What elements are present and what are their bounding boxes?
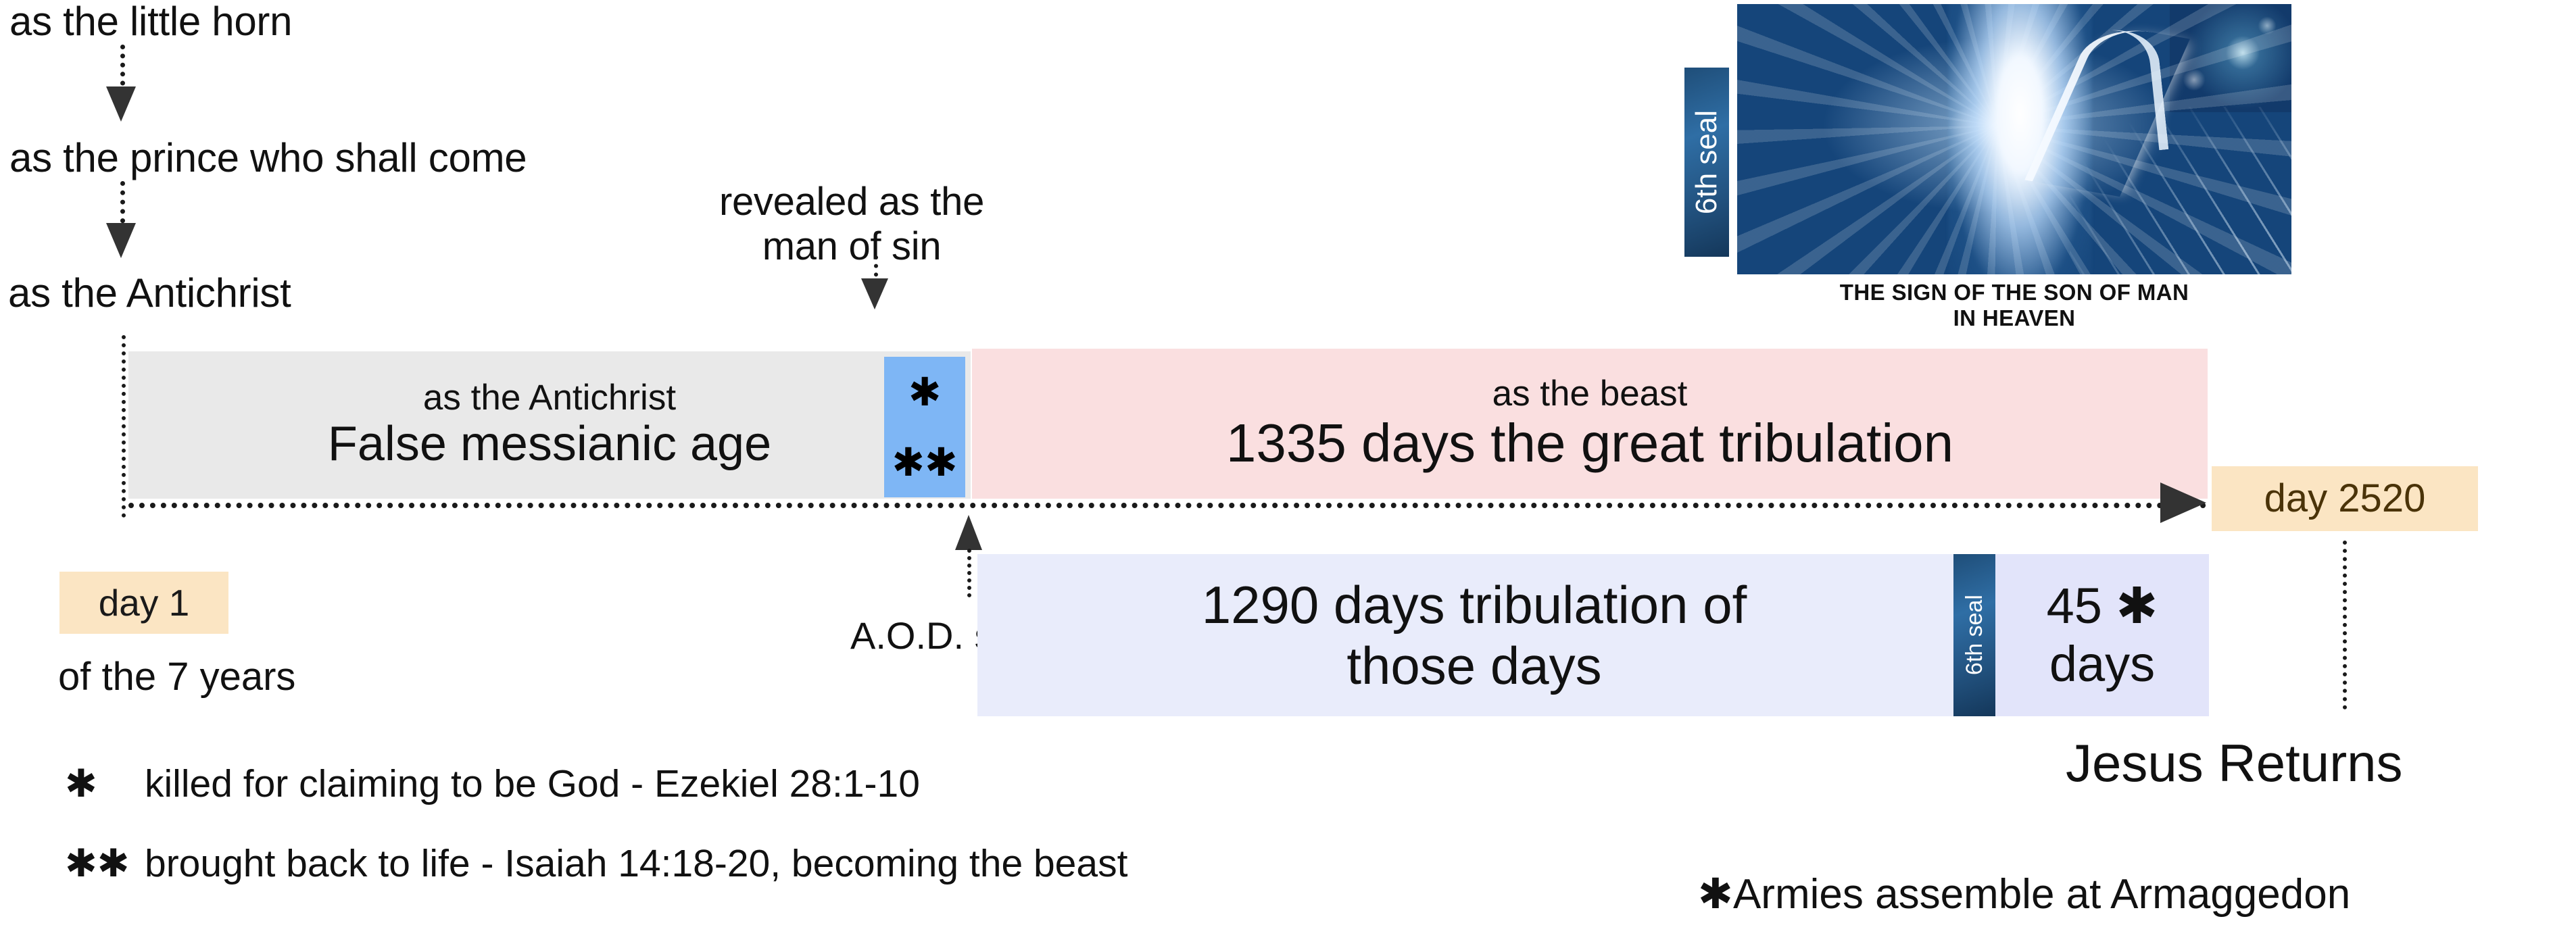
picture-caption-line-2: IN HEAVEN xyxy=(1737,305,2291,331)
prophecy-timeline-diagram: as the little horn as the prince who sha… xyxy=(0,0,2576,946)
jesus-returns-text: Jesus Returns xyxy=(2066,733,2403,793)
arrow-right-icon-timeline-end xyxy=(2160,482,2206,523)
seal-tab-lower-label: 6th seal xyxy=(1963,595,1986,675)
segment-death-and-resurrection: ✱ ✱✱ xyxy=(884,357,965,497)
meteor-streaks-decoration xyxy=(2070,107,2291,274)
sign-of-son-of-man-caption: THE SIGN OF THE SON OF MAN IN HEAVEN xyxy=(1737,280,2291,332)
armies-note: ✱Armies assemble at Armaggedon xyxy=(1698,873,2350,916)
arrow-down-icon-2 xyxy=(106,223,136,258)
arrow-down-icon-1 xyxy=(106,86,136,122)
footnote-1-text: killed for claiming to be God - Ezekiel … xyxy=(145,762,920,805)
segment-great-tribulation-main: 1335 days the great tribulation xyxy=(1226,415,1953,472)
day-1-note: of the 7 years xyxy=(58,654,295,699)
armies-note-mark: ✱ xyxy=(1698,869,1733,918)
day-2520-chip-label: day 2520 xyxy=(2264,479,2426,518)
lineage-label-little-horn: as the little horn xyxy=(9,1,292,42)
segment-great-tribulation: as the beast 1335 days the great tribula… xyxy=(972,349,2208,499)
segment-false-messianic-age-sub: as the Antichrist xyxy=(423,380,676,416)
revealed-callout-line-2: man of sin xyxy=(669,227,1034,266)
segment-1290-days-line-1: 1290 days tribulation of xyxy=(1202,576,1747,633)
lineage-label-prince-who-shall-come: as the prince who shall come xyxy=(9,138,527,178)
segment-45-days: 45 ✱ days xyxy=(1995,554,2209,716)
day-2520-chip: day 2520 xyxy=(2212,466,2478,531)
footnote-1: ✱killed for claiming to be God - Ezekiel… xyxy=(65,765,920,803)
seal-tab-picture-label: 6th seal xyxy=(1692,110,1722,214)
segment-false-messianic-age: as the Antichrist False messianic age xyxy=(128,351,971,499)
revealed-callout-line-1: revealed as the xyxy=(669,182,1034,222)
segment-45-days-line-2: days xyxy=(2049,637,2155,691)
jesus-returns-marker-line xyxy=(2343,541,2347,709)
lineage-label-antichrist: as the Antichrist xyxy=(8,273,291,314)
segment-great-tribulation-sub: as the beast xyxy=(1492,376,1688,412)
day-1-marker-line xyxy=(122,335,126,518)
segment-1290-days: 1290 days tribulation of those days xyxy=(977,554,1971,716)
seal-tab-lower: 6th seal xyxy=(1953,554,1995,716)
segment-false-messianic-age-main: False messianic age xyxy=(328,419,771,470)
jesus-returns-label: Jesus Returns xyxy=(2066,737,2403,789)
arrow-up-icon-aod xyxy=(955,515,982,550)
footnote-2-mark: ✱✱ xyxy=(65,845,145,883)
segment-45-days-line-1: 45 ✱ xyxy=(2047,579,2158,633)
timeline-axis-dotted xyxy=(128,503,2207,508)
segment-death-mark-top: ✱ xyxy=(908,372,942,412)
footnote-2: ✱✱brought back to life - Isaiah 14:18-20… xyxy=(65,845,1127,883)
sign-of-son-of-man-image xyxy=(1737,4,2291,274)
arrow-down-icon-revealed xyxy=(861,278,888,309)
picture-caption-line-1: THE SIGN OF THE SON OF MAN xyxy=(1737,280,2291,305)
seal-tab-picture: 6th seal xyxy=(1684,68,1729,257)
day-1-chip-label: day 1 xyxy=(99,584,190,622)
aod-connector xyxy=(967,549,971,597)
armies-note-text: Armies assemble at Armaggedon xyxy=(1733,871,2350,918)
day-1-chip: day 1 xyxy=(59,572,228,634)
footnote-2-text: brought back to life - Isaiah 14:18-20, … xyxy=(145,842,1127,885)
segment-death-mark-bottom: ✱✱ xyxy=(892,443,957,482)
footnote-1-mark: ✱ xyxy=(65,765,145,803)
revealed-callout: revealed as the man of sin xyxy=(669,182,1034,266)
segment-1290-days-line-2: those days xyxy=(1346,637,1601,694)
